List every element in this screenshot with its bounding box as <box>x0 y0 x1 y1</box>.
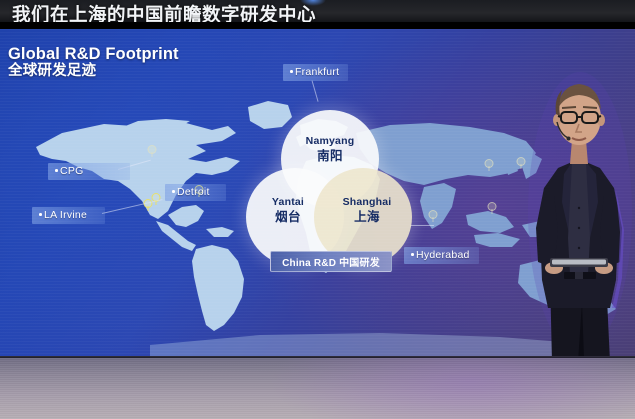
map-label-frankfurt[interactable]: Frankfurt <box>283 64 348 81</box>
map-label-text: LA Irvine <box>44 209 87 221</box>
map-label-hyderabad[interactable]: Hyderabad <box>404 247 479 264</box>
leader-line-hyderabad <box>410 225 434 226</box>
venn-label-shanghai: Shanghai 上海 <box>330 197 404 224</box>
presentation-stage-photo: 我们在上海的中国前瞻数字研发中心 <box>0 0 635 419</box>
label-dot-icon <box>172 190 175 193</box>
slide-heading: Global R&D Footprint 全球研发足迹 <box>8 46 179 79</box>
venn-label-yantai: Yantai 烟台 <box>252 197 324 224</box>
china-rd-venn-diagram: Namyang 南阳 Yantai 烟台 Shanghai 上海 China R… <box>246 110 412 266</box>
venn-label-namyang-en: Namyang <box>292 136 368 148</box>
pin-tail-icon <box>491 209 493 214</box>
map-label-text: Frankfurt <box>295 66 339 78</box>
pin-tail-icon <box>147 206 149 211</box>
stage-floor <box>0 356 635 419</box>
map-pin-asia-south[interactable] <box>488 202 497 214</box>
venn-label-shanghai-zh: 上海 <box>330 210 404 224</box>
label-dot-icon <box>55 169 58 172</box>
venn-label-shanghai-en: Shanghai <box>330 197 404 209</box>
slide-heading-zh: 全球研发足迹 <box>8 64 179 79</box>
floor-texture <box>0 356 635 419</box>
label-dot-icon <box>39 213 42 216</box>
map-label-text: Detroit <box>177 186 210 198</box>
map-pin-china-east[interactable] <box>485 159 494 171</box>
venn-label-namyang-zh: 南阳 <box>292 149 368 163</box>
venn-label-yantai-zh: 烟台 <box>252 210 324 224</box>
top-banner: 我们在上海的中国前瞻数字研发中心 <box>0 0 635 29</box>
map-label-la-irvine[interactable]: LA Irvine <box>32 207 105 224</box>
china-rd-label-bar: China R&D 中国研发 <box>270 251 392 272</box>
map-label-text: Hyderabad <box>416 249 470 261</box>
banner-title: 我们在上海的中国前瞻数字研发中心 <box>12 1 316 27</box>
pin-tail-icon <box>432 217 434 222</box>
map-label-text: CPG <box>60 165 84 177</box>
map-label-detroit[interactable]: Detroit <box>165 184 226 201</box>
slide-heading-en: Global R&D Footprint <box>8 46 179 63</box>
map-pin-hyderabad[interactable] <box>429 210 438 222</box>
pin-tail-icon <box>151 152 153 157</box>
venn-label-namyang: Namyang 南阳 <box>292 136 368 163</box>
venn-label-yantai-en: Yantai <box>252 197 324 209</box>
map-label-cpg[interactable]: CPG <box>48 163 130 180</box>
label-dot-icon <box>290 70 293 73</box>
pin-tail-icon <box>488 166 490 171</box>
map-pin-cpg[interactable] <box>148 145 157 157</box>
